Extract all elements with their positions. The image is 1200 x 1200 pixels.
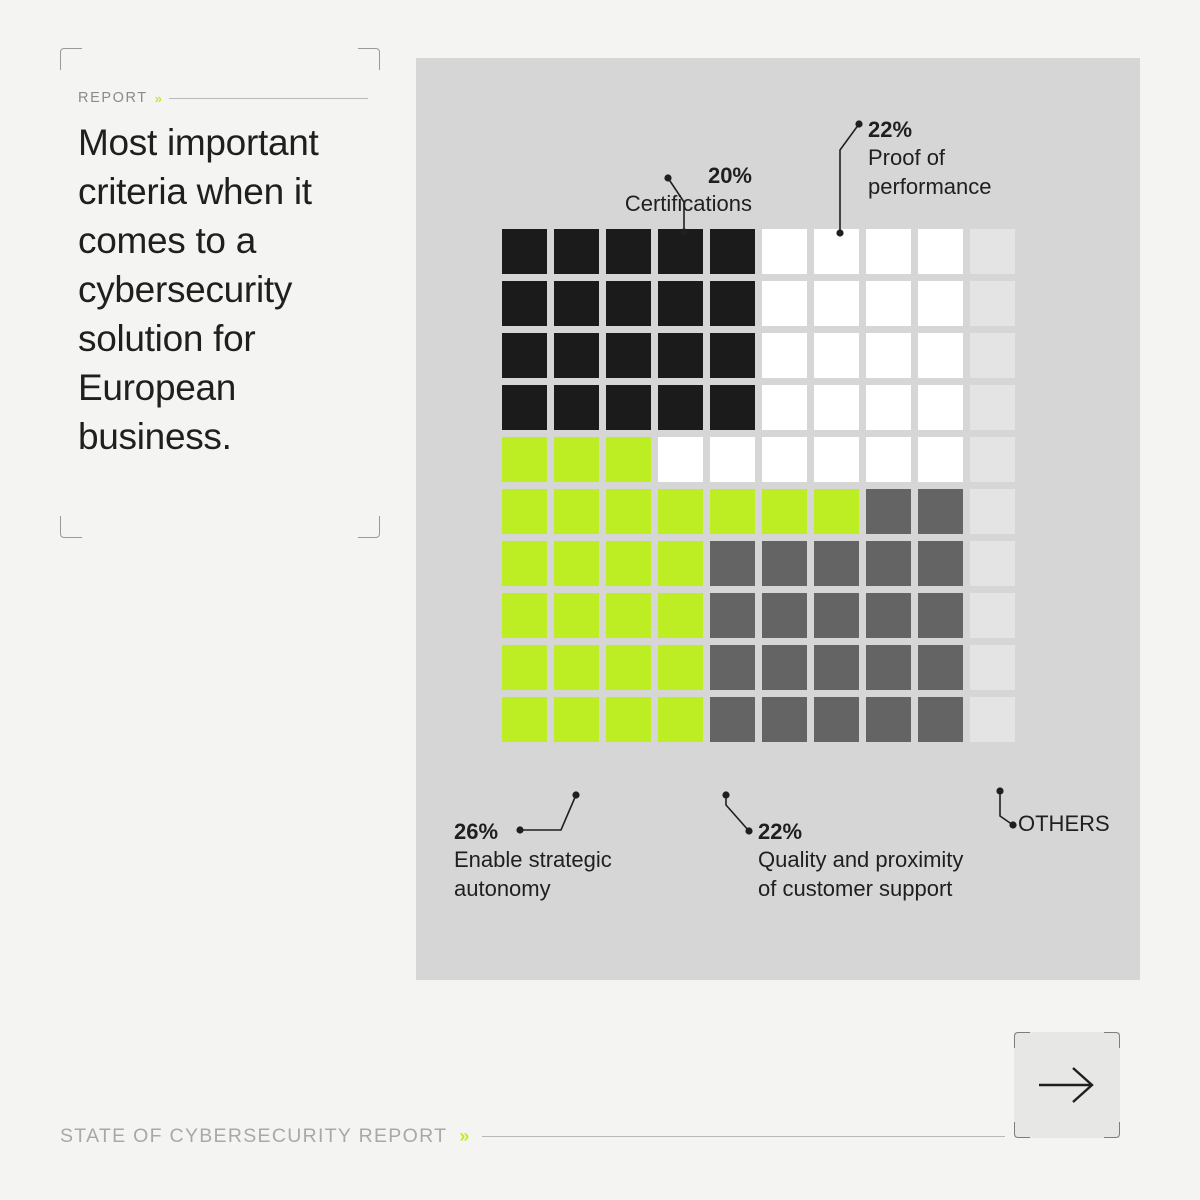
intro-block: REPORT » Most important criteria when it…	[60, 48, 380, 538]
footer-rule	[482, 1136, 1005, 1137]
footer-label: STATE OF CYBERSECURITY REPORT	[60, 1125, 447, 1148]
next-button[interactable]	[1014, 1032, 1120, 1138]
corner-bracket-bottom-right-icon	[358, 516, 380, 538]
leader-line-others	[416, 58, 1140, 980]
page-title: Most important criteria when it comes to…	[78, 118, 378, 461]
infographic-page: REPORT » Most important criteria when it…	[0, 0, 1200, 1200]
footer: STATE OF CYBERSECURITY REPORT »	[60, 1125, 1005, 1148]
chevron-double-right-icon: »	[155, 91, 161, 106]
footer-chevron-double-right-icon: »	[459, 1126, 468, 1147]
corner-bracket-top-right-icon	[358, 48, 380, 70]
corner-bracket-top-left-icon	[60, 48, 82, 70]
eyebrow: REPORT »	[78, 90, 368, 106]
corner-bracket-bottom-left-icon	[60, 516, 82, 538]
eyebrow-label: REPORT	[78, 90, 148, 106]
chart-panel: 20% Certifications 22% Proof of performa…	[416, 58, 1140, 980]
eyebrow-rule	[169, 98, 368, 99]
arrow-right-icon	[1014, 1032, 1120, 1138]
